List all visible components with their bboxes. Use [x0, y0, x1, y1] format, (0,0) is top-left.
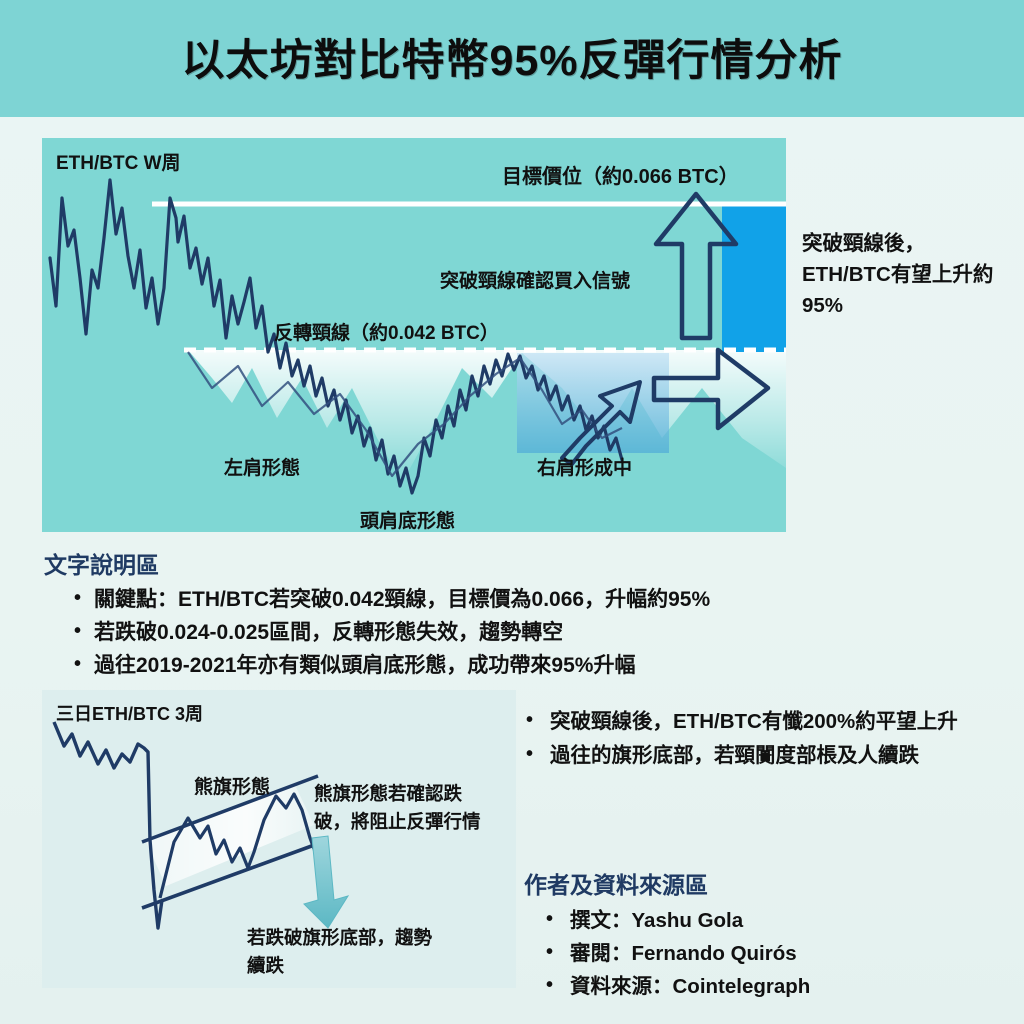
main-chart-panel: ETH/BTC W周 目標價位（約0.066 BTC） 反轉頸線（約0.042 … [42, 138, 786, 532]
bottom-right-list: 突破頸線後，ETH/BTC有懺200%約平望上升 過往的旗形底部，若頸闠度部棖及… [524, 706, 1016, 771]
list-item: 過往的旗形底部，若頸闠度部棖及人續跌 [524, 740, 1016, 771]
label-right-shoulder: 右肩形成中 [537, 453, 632, 480]
breakdown-arrow [304, 836, 348, 928]
chart-side-note: 突破頸線後，ETH/BTC有望上升約95% [802, 228, 1012, 321]
text-explanation-section: 文字說明區 關鍵點：ETH/BTC若突破0.042頸線，目標價為0.066，升幅… [44, 546, 984, 683]
bottom-right-bullets: 突破頸線後，ETH/BTC有懺200%約平望上升 過往的旗形底部，若頸闠度部棖及… [524, 706, 1016, 774]
label-bear-flag: 熊旗形態 [194, 772, 270, 799]
list-item: 資料來源：Cointelegraph [546, 970, 1016, 1003]
text-section-heading: 文字說明區 [44, 546, 984, 580]
page-title: 以太坊對比特幣95%反彈行情分析 [0, 26, 1024, 88]
text-section-bullets: 關鍵點：ETH/BTC若突破0.042頸線，目標價為0.066，升幅約95% 若… [44, 584, 984, 681]
bear-flag-chart-panel: 三日ETH/BTC 3周 熊旗形態 熊旗形態若確認跌破，將阻止反彈行情 若跌破旗… [42, 690, 516, 988]
flag-price-line [54, 722, 162, 928]
target-zone-rect [722, 206, 786, 352]
authors-section: 作者及資料來源區 撰文：Yashu Gola 審閱：Fernando Quiró… [524, 866, 1016, 1003]
authors-list: 撰文：Yashu Gola 審閱：Fernando Quirós 資料來源：Co… [524, 904, 1016, 1003]
label-bear-flag-note: 熊旗形態若確認跌破，將阻止反彈行情 [314, 780, 489, 836]
list-item: 若跌破0.024-0.025區間，反轉形態失效，趨勢轉空 [74, 617, 984, 648]
list-item: 關鍵點：ETH/BTC若突破0.042頸線，目標價為0.066，升幅約95% [74, 584, 984, 615]
list-item: 突破頸線後，ETH/BTC有懺200%約平望上升 [524, 706, 1016, 737]
flag-chart-symbol-tag: 三日ETH/BTC 3周 [56, 700, 203, 726]
list-item: 審閱：Fernando Quirós [546, 937, 1016, 970]
list-item: 撰文：Yashu Gola [546, 904, 1016, 937]
list-item: 過往2019-2021年亦有類似頭肩底形態，成功帶來95%升幅 [74, 650, 984, 681]
label-head-and-shoulders: 頭肩底形態 [360, 506, 455, 532]
label-breakout-signal: 突破頸線確認買入信號 [440, 266, 630, 293]
label-neckline: 反轉頸線（約0.042 BTC） [274, 318, 499, 345]
page-root: 以太坊對比特幣95%反彈行情分析 [0, 0, 1024, 1024]
chart-symbol-tag: ETH/BTC W周 [56, 148, 181, 175]
label-left-shoulder: 左肩形態 [224, 453, 300, 480]
label-flag-breakdown: 若跌破旗形底部，趨勢續跌 [247, 924, 437, 980]
authors-heading: 作者及資料來源區 [524, 866, 1016, 900]
label-target-price: 目標價位（約0.066 BTC） [502, 160, 739, 189]
